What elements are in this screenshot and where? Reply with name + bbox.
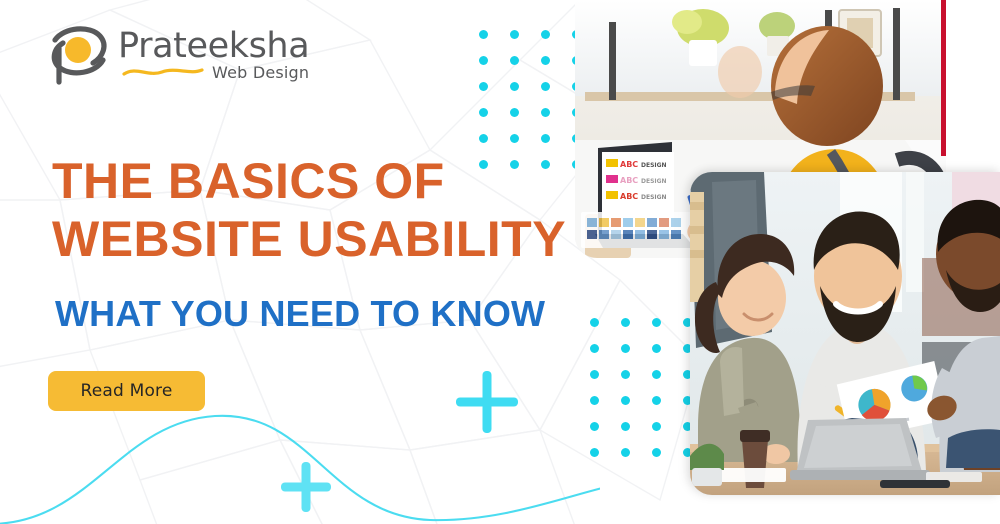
dot	[541, 82, 550, 91]
logo-squiggle-icon	[122, 66, 204, 78]
dot	[541, 134, 550, 143]
dot	[621, 318, 630, 327]
dot	[541, 30, 550, 39]
dot	[590, 344, 599, 353]
dot	[479, 82, 488, 91]
dot-grid-top	[479, 30, 581, 169]
dot	[590, 422, 599, 431]
dot	[652, 344, 661, 353]
brand-logo[interactable]: Prateeksha Web Design	[46, 24, 309, 86]
page-title: THE BASICS OF WEBSITE USABILITY	[52, 152, 566, 268]
dot	[590, 318, 599, 327]
dot	[652, 422, 661, 431]
dot	[652, 448, 661, 457]
page-subtitle: WHAT YOU NEED TO KNOW	[55, 293, 545, 335]
read-more-button[interactable]: Read More	[48, 371, 205, 411]
headline-line-2: WEBSITE USABILITY	[52, 210, 566, 268]
photo-team-collaboration	[690, 172, 1000, 495]
svg-text:ABC: ABC	[620, 160, 638, 169]
plus-icon-large	[456, 371, 518, 433]
dot	[479, 108, 488, 117]
brand-tagline: Web Design	[212, 65, 309, 81]
dot	[510, 82, 519, 91]
svg-text:ABC: ABC	[620, 176, 638, 185]
dot	[479, 30, 488, 39]
dot	[510, 108, 519, 117]
dot	[590, 448, 599, 457]
svg-text:DESIGN: DESIGN	[641, 162, 667, 169]
promo-banner: Prateeksha Web Design THE BASICS OF WEBS…	[0, 0, 1000, 524]
red-accent-stripe	[941, 0, 946, 156]
dot	[590, 370, 599, 379]
svg-text:DESIGN: DESIGN	[641, 194, 667, 201]
dot	[590, 396, 599, 405]
dot	[621, 344, 630, 353]
prateeksha-eye-logo-icon	[46, 24, 112, 86]
dot	[479, 56, 488, 65]
dot	[510, 56, 519, 65]
plus-icon-small	[281, 462, 331, 512]
svg-text:DESIGN: DESIGN	[641, 178, 667, 185]
dot	[479, 134, 488, 143]
dot	[652, 370, 661, 379]
dot	[621, 448, 630, 457]
dot	[652, 396, 661, 405]
headline-line-1: THE BASICS OF	[52, 152, 566, 210]
svg-text:ABC: ABC	[620, 192, 638, 201]
dot	[541, 108, 550, 117]
dot	[510, 134, 519, 143]
brand-name: Prateeksha	[118, 29, 309, 64]
dot	[621, 422, 630, 431]
dot	[621, 370, 630, 379]
dot-grid-bottom	[590, 318, 692, 457]
dot	[621, 396, 630, 405]
dot	[541, 56, 550, 65]
dot	[510, 30, 519, 39]
dot	[652, 318, 661, 327]
